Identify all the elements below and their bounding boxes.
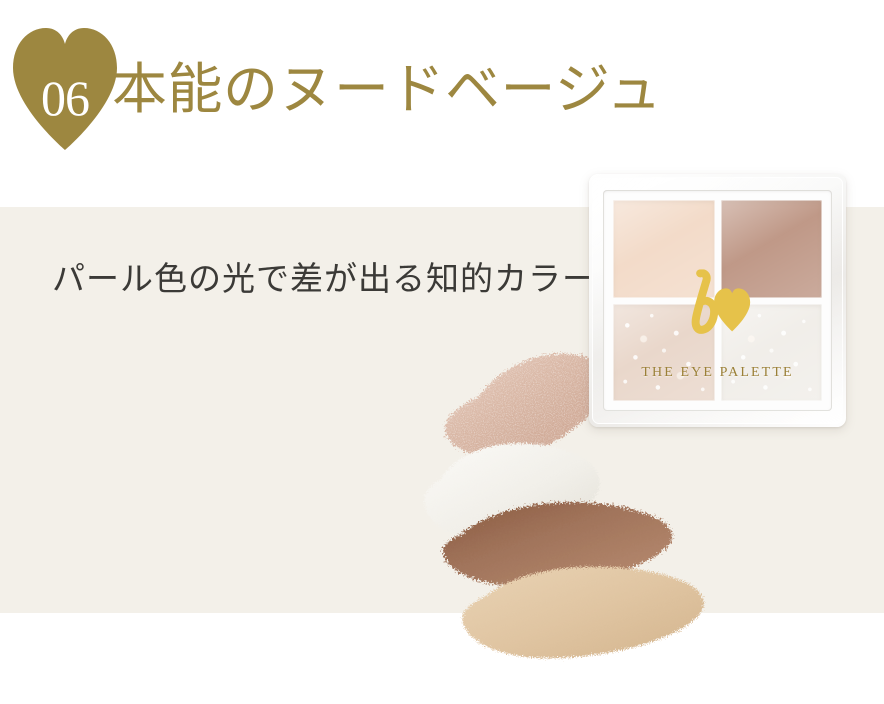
page-title: 本能のヌードベージュ bbox=[112, 61, 662, 119]
product-banner: 06 本能のヌードベージュ パール色の光で差が出る知的カラー bbox=[0, 0, 884, 704]
pan-grid bbox=[613, 200, 822, 401]
palette-case: THE EYE PALETTE bbox=[589, 174, 846, 427]
product-palette: THE EYE PALETTE bbox=[589, 174, 846, 427]
pan-top-left bbox=[613, 200, 715, 298]
badge-number: 06 bbox=[11, 26, 119, 150]
subtitle: パール色の光で差が出る知的カラー bbox=[52, 259, 596, 299]
number-badge: 06 bbox=[11, 26, 119, 150]
pan-bottom-right bbox=[721, 304, 823, 402]
pan-top-right bbox=[721, 200, 823, 298]
pan-sheen bbox=[613, 304, 715, 402]
pan-sheen bbox=[721, 304, 823, 402]
pan-sheen bbox=[721, 200, 823, 298]
pan-bottom-left bbox=[613, 304, 715, 402]
pan-sheen bbox=[613, 200, 715, 298]
rose-shimmer-sparkle bbox=[445, 354, 606, 459]
